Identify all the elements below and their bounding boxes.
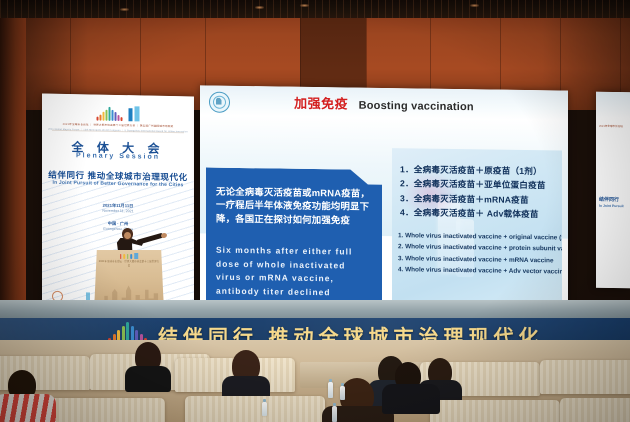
- metropolis-icon: [129, 106, 140, 121]
- conclusion-text-cn: 无论全病毒灭活疫苗或mRNA疫苗，一疗程后半年体液免疫功能均明显下降，各国正在探…: [216, 185, 374, 227]
- slide-title-en: Boosting vaccination: [359, 100, 474, 114]
- water-bottle: [262, 402, 267, 416]
- water-bottle: [332, 406, 337, 422]
- list-items-cn: 1．全病毒灭活疫苗＋原疫苗（1剂）2．全病毒灭活疫苗＋亚单位蛋白疫苗3．全病毒灭…: [400, 162, 558, 221]
- list-items-en: 1. Whole virus inactivated vaccine + ori…: [398, 230, 560, 278]
- forum-stripes-logo-icon: [97, 106, 123, 121]
- right-projection-screen: 2021年全球市长论坛 结伴同行 In Joint Pursuit: [596, 92, 630, 288]
- right-header-cn: 2021年全球市长论坛: [599, 124, 623, 130]
- conclusion-text-en: Six months after either full dose of who…: [216, 244, 374, 309]
- chair: [560, 398, 630, 422]
- conclusion-blue-panel: 无论全病毒灭活疫苗或mRNA疫苗，一疗程后半年体液免疫功能均明显下降，各国正在探…: [206, 168, 382, 304]
- conference-hall-photo: 2021年全球市长论坛 ｜ 世界大都市协会第十三届世界大会 ｜ 第五届广州国际城…: [0, 0, 630, 422]
- vaccine-combination-list-panel: 1．全病毒灭活疫苗＋原疫苗（1剂）2．全病毒灭活疫苗＋亚单位蛋白疫苗3．全病毒灭…: [392, 148, 562, 306]
- left-pillar: [0, 18, 26, 318]
- chair: [540, 360, 630, 394]
- event-logo-group: [97, 106, 140, 122]
- right-screen-band: [596, 92, 630, 118]
- speaker-face: [124, 232, 131, 239]
- main-projection-screen: 加强免疫 Boosting vaccination 1．全病毒灭活疫苗＋原疫苗（…: [200, 85, 568, 308]
- audience-torso: [125, 366, 171, 392]
- audience-torso: [382, 384, 440, 414]
- chair: [185, 396, 325, 422]
- water-bottle: [340, 386, 345, 400]
- list-item: 4．全病毒灭活疫苗＋ Adv载体疫苗: [400, 205, 558, 221]
- slide-title-cn: 加强免疫: [294, 96, 348, 112]
- list-item: 4. Whole virus inactivated vaccine + Adv…: [398, 264, 560, 278]
- water-bottle: [328, 382, 333, 398]
- right-subtitle-cn: 结伴同行: [599, 196, 619, 203]
- chair: [430, 400, 560, 422]
- podium-label: 2021年全球市长论坛 · 世界大都市协会第十三届世界大会: [98, 259, 160, 267]
- audience-torso: [0, 394, 56, 422]
- list-item: 2．全病毒灭活疫苗＋亚单位蛋白疫苗: [400, 176, 558, 192]
- right-subtitle-en: In Joint Pursuit: [599, 204, 624, 208]
- slide-body: 1．全病毒灭活疫苗＋原疫苗（1剂）2．全病毒灭活疫苗＋亚单位蛋白疫苗3．全病毒灭…: [200, 115, 568, 308]
- audience-area: [0, 340, 630, 422]
